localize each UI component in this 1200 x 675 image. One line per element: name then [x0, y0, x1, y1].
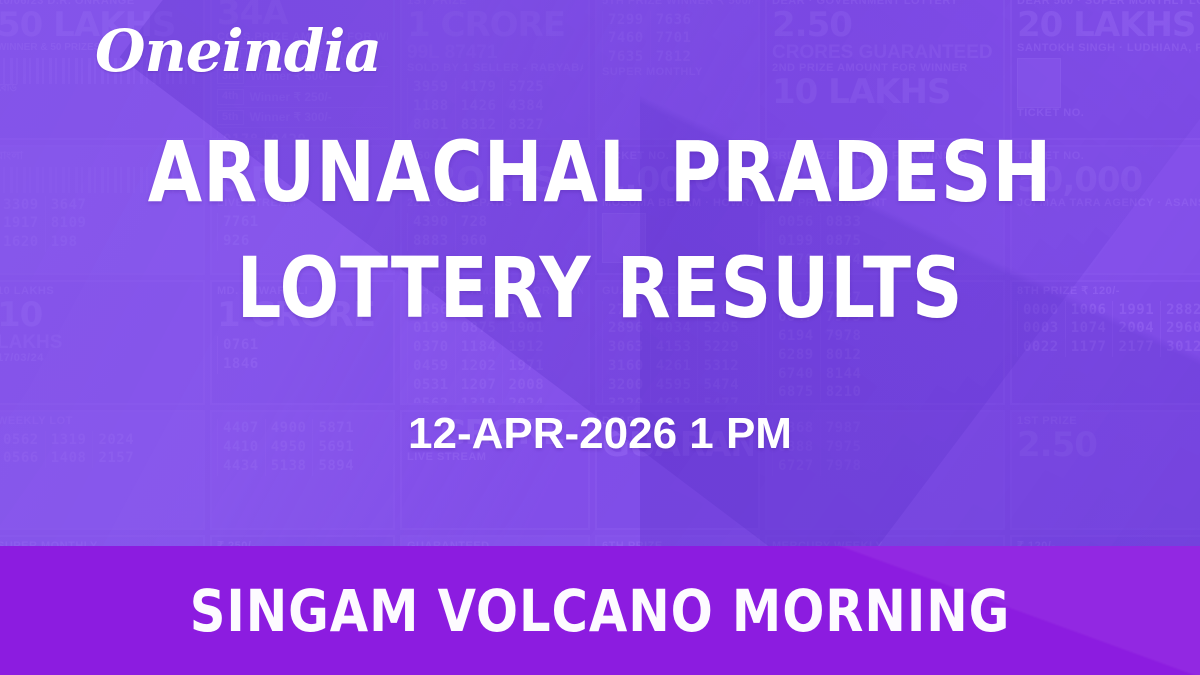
page-title: ARUNACHAL PRADESH LOTTERY RESULTS — [0, 130, 1200, 330]
lottery-name-label: SINGAM VOLCANO MORNING — [30, 546, 1170, 675]
oneindia-logo[interactable]: Oneindia — [95, 22, 381, 80]
lottery-name-banner: SINGAM VOLCANO MORNING — [0, 546, 1200, 675]
headline-line-1: ARUNACHAL PRADESH — [42, 130, 1158, 214]
draw-date-time: 12-APR-2026 1 PM — [0, 409, 1200, 459]
headline-line-2: LOTTERY RESULTS — [42, 246, 1158, 330]
lottery-result-poster: 10/06/23 D.R. ONRANGE 50 LAKHS WINNER & … — [0, 0, 1200, 675]
